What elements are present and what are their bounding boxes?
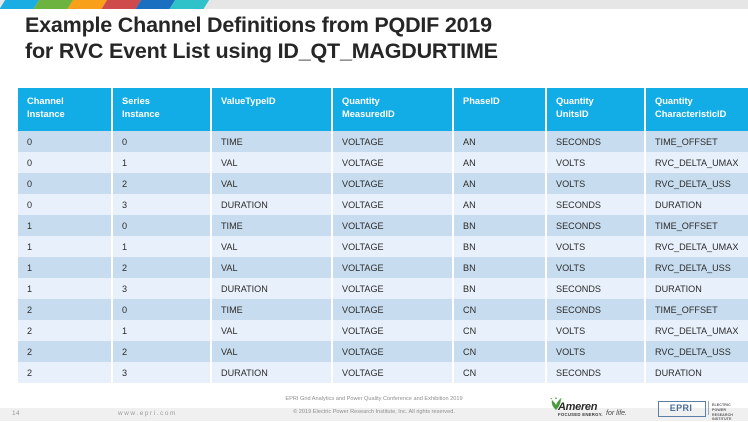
- table-cell-7: DURATION: [645, 278, 748, 299]
- table-cell-3: TIME: [211, 215, 332, 236]
- table-cell-5: BN: [453, 215, 546, 236]
- table-cell-4: VOLTAGE: [332, 320, 453, 341]
- table-cell-4: VOLTAGE: [332, 131, 453, 152]
- table-cell-2: 3: [112, 194, 211, 215]
- epri-wordmark: EPRI: [658, 401, 704, 415]
- table-cell-4: VOLTAGE: [332, 299, 453, 320]
- table-cell-2: 2: [112, 341, 211, 362]
- table-cell-7: TIME_OFFSET: [645, 215, 748, 236]
- table-cell-1: 1: [18, 215, 112, 236]
- table-cell-5: CN: [453, 341, 546, 362]
- decorative-top-stripe: [0, 0, 748, 9]
- column-header-line-1: Quantity: [342, 96, 380, 106]
- table-cell-4: VOLTAGE: [332, 236, 453, 257]
- table-cell-7: RVC_DELTA_UMAX: [645, 320, 748, 341]
- table-cell-7: RVC_DELTA_UMAX: [645, 152, 748, 173]
- table-cell-6: SECONDS: [546, 299, 645, 320]
- table-cell-3: VAL: [211, 257, 332, 278]
- column-header-1: ChannelInstance: [18, 88, 112, 131]
- table-cell-4: VOLTAGE: [332, 215, 453, 236]
- table-cell-3: DURATION: [211, 278, 332, 299]
- table-cell-3: DURATION: [211, 194, 332, 215]
- column-header-2: SeriesInstance: [112, 88, 211, 131]
- table-header-row: ChannelInstanceSeriesInstanceValueTypeID…: [18, 88, 748, 131]
- epri-logo-divider: [708, 401, 709, 415]
- column-header-4: QuantityMeasuredID: [332, 88, 453, 131]
- page-title: Example Channel Definitions from PQDIF 2…: [25, 12, 725, 64]
- epri-logo: EPRI ELECTRIC POWER RESEARCH INSTITUTE: [658, 400, 742, 417]
- table-cell-6: VOLTS: [546, 152, 645, 173]
- column-header-line-2: CharacteristicID: [655, 108, 748, 121]
- table-cell-2: 1: [112, 236, 211, 257]
- table-cell-6: VOLTS: [546, 320, 645, 341]
- table-cell-6: SECONDS: [546, 215, 645, 236]
- table-cell-1: 0: [18, 131, 112, 152]
- table-row: 01VALVOLTAGEANVOLTSRVC_DELTA_UMAX: [18, 152, 748, 173]
- page-title-line-1: Example Channel Definitions from PQDIF 2…: [25, 13, 492, 37]
- column-header-line-1: Series: [122, 96, 150, 106]
- ameren-tagline: FOCUSED ENERGY.: [558, 412, 603, 417]
- table-cell-5: CN: [453, 320, 546, 341]
- table-cell-2: 2: [112, 257, 211, 278]
- table-cell-5: BN: [453, 236, 546, 257]
- table-cell-6: VOLTS: [546, 257, 645, 278]
- table-cell-6: SECONDS: [546, 362, 645, 383]
- table-cell-7: RVC_DELTA_UMAX: [645, 236, 748, 257]
- table-cell-7: DURATION: [645, 194, 748, 215]
- column-header-line-1: Quantity: [655, 96, 693, 106]
- table-cell-2: 1: [112, 152, 211, 173]
- channel-definitions-table: ChannelInstanceSeriesInstanceValueTypeID…: [18, 88, 748, 383]
- table-row: 23DURATIONVOLTAGECNSECONDSDURATION: [18, 362, 748, 383]
- table-cell-7: TIME_OFFSET: [645, 299, 748, 320]
- table-body: 00TIMEVOLTAGEANSECONDSTIME_OFFSET01VALVO…: [18, 131, 748, 383]
- table-cell-7: TIME_OFFSET: [645, 131, 748, 152]
- table-cell-2: 0: [112, 215, 211, 236]
- table-cell-6: SECONDS: [546, 194, 645, 215]
- table-cell-4: VOLTAGE: [332, 341, 453, 362]
- table-row: 03DURATIONVOLTAGEANSECONDSDURATION: [18, 194, 748, 215]
- table-cell-2: 2: [112, 173, 211, 194]
- table-cell-3: VAL: [211, 173, 332, 194]
- table-cell-3: VAL: [211, 341, 332, 362]
- table-cell-5: BN: [453, 278, 546, 299]
- table-cell-7: DURATION: [645, 362, 748, 383]
- table-cell-2: 3: [112, 278, 211, 299]
- table-cell-1: 1: [18, 257, 112, 278]
- table-cell-1: 0: [18, 194, 112, 215]
- column-header-7: QuantityCharacteristicID: [645, 88, 748, 131]
- table-cell-6: VOLTS: [546, 341, 645, 362]
- table-cell-4: VOLTAGE: [332, 173, 453, 194]
- table-cell-2: 0: [112, 299, 211, 320]
- table-cell-6: SECONDS: [546, 131, 645, 152]
- table-header: ChannelInstanceSeriesInstanceValueTypeID…: [18, 88, 748, 131]
- table-cell-3: TIME: [211, 299, 332, 320]
- column-header-line-1: Quantity: [556, 96, 594, 106]
- epri-logo-subtitle: ELECTRIC POWER RESEARCH INSTITUTE: [712, 403, 742, 422]
- table-cell-5: AN: [453, 194, 546, 215]
- table-cell-1: 2: [18, 341, 112, 362]
- table-cell-4: VOLTAGE: [332, 278, 453, 299]
- table-row: 00TIMEVOLTAGEANSECONDSTIME_OFFSET: [18, 131, 748, 152]
- table-cell-1: 1: [18, 236, 112, 257]
- table-cell-3: VAL: [211, 152, 332, 173]
- table-cell-5: AN: [453, 152, 546, 173]
- epri-subtitle-line-1: ELECTRIC POWER: [712, 403, 731, 412]
- epri-subtitle-line-2: RESEARCH INSTITUTE: [712, 413, 733, 422]
- table-row: 02VALVOLTAGEANVOLTSRVC_DELTA_USS: [18, 173, 748, 194]
- table-cell-1: 0: [18, 152, 112, 173]
- column-header-line-2: Instance: [27, 108, 111, 121]
- table-row: 20TIMEVOLTAGECNSECONDSTIME_OFFSET: [18, 299, 748, 320]
- table-cell-2: 1: [112, 320, 211, 341]
- table-row: 13DURATIONVOLTAGEBNSECONDSDURATION: [18, 278, 748, 299]
- table-cell-5: AN: [453, 131, 546, 152]
- table-cell-4: VOLTAGE: [332, 152, 453, 173]
- table-cell-1: 2: [18, 320, 112, 341]
- table-cell-4: VOLTAGE: [332, 362, 453, 383]
- column-header-line-1: Channel: [27, 96, 64, 106]
- table-cell-7: RVC_DELTA_USS: [645, 257, 748, 278]
- table-cell-4: VOLTAGE: [332, 257, 453, 278]
- table-cell-5: CN: [453, 299, 546, 320]
- table-cell-1: 2: [18, 362, 112, 383]
- table-cell-3: TIME: [211, 131, 332, 152]
- column-header-3: ValueTypeID: [211, 88, 332, 131]
- ameren-for-life-text: for life.: [606, 410, 627, 417]
- table-cell-6: VOLTS: [546, 236, 645, 257]
- table-cell-5: AN: [453, 173, 546, 194]
- ameren-logo: Ameren FOCUSED ENERGY. for life.: [540, 396, 644, 420]
- table-cell-2: 0: [112, 131, 211, 152]
- column-header-6: QuantityUnitsID: [546, 88, 645, 131]
- table-cell-1: 2: [18, 299, 112, 320]
- column-header-line-2: Instance: [122, 108, 210, 121]
- column-header-line-2: MeasuredID: [342, 108, 452, 121]
- table-cell-3: VAL: [211, 236, 332, 257]
- table-cell-2: 3: [112, 362, 211, 383]
- stripe-segment-6: [166, 0, 211, 9]
- table-cell-1: 0: [18, 173, 112, 194]
- table-cell-3: VAL: [211, 320, 332, 341]
- table-row: 21VALVOLTAGECNVOLTSRVC_DELTA_UMAX: [18, 320, 748, 341]
- table-cell-3: DURATION: [211, 362, 332, 383]
- table-row: 22VALVOLTAGECNVOLTSRVC_DELTA_USS: [18, 341, 748, 362]
- table-cell-5: CN: [453, 362, 546, 383]
- table-cell-7: RVC_DELTA_USS: [645, 341, 748, 362]
- table-row: 12VALVOLTAGEBNVOLTSRVC_DELTA_USS: [18, 257, 748, 278]
- table-cell-7: RVC_DELTA_USS: [645, 173, 748, 194]
- column-header-line-1: ValueTypeID: [221, 96, 276, 106]
- column-header-line-1: PhaseID: [463, 96, 500, 106]
- table-cell-6: VOLTS: [546, 173, 645, 194]
- column-header-line-2: UnitsID: [556, 108, 644, 121]
- page-title-line-2: for RVC Event List using ID_QT_MAGDURTIM…: [25, 38, 725, 64]
- table-cell-1: 1: [18, 278, 112, 299]
- column-header-5: PhaseID: [453, 88, 546, 131]
- table-cell-5: BN: [453, 257, 546, 278]
- table-cell-4: VOLTAGE: [332, 194, 453, 215]
- table-cell-6: SECONDS: [546, 278, 645, 299]
- table-row: 11VALVOLTAGEBNVOLTSRVC_DELTA_UMAX: [18, 236, 748, 257]
- table-row: 10TIMEVOLTAGEBNSECONDSTIME_OFFSET: [18, 215, 748, 236]
- slide-canvas: Example Channel Definitions from PQDIF 2…: [0, 0, 748, 421]
